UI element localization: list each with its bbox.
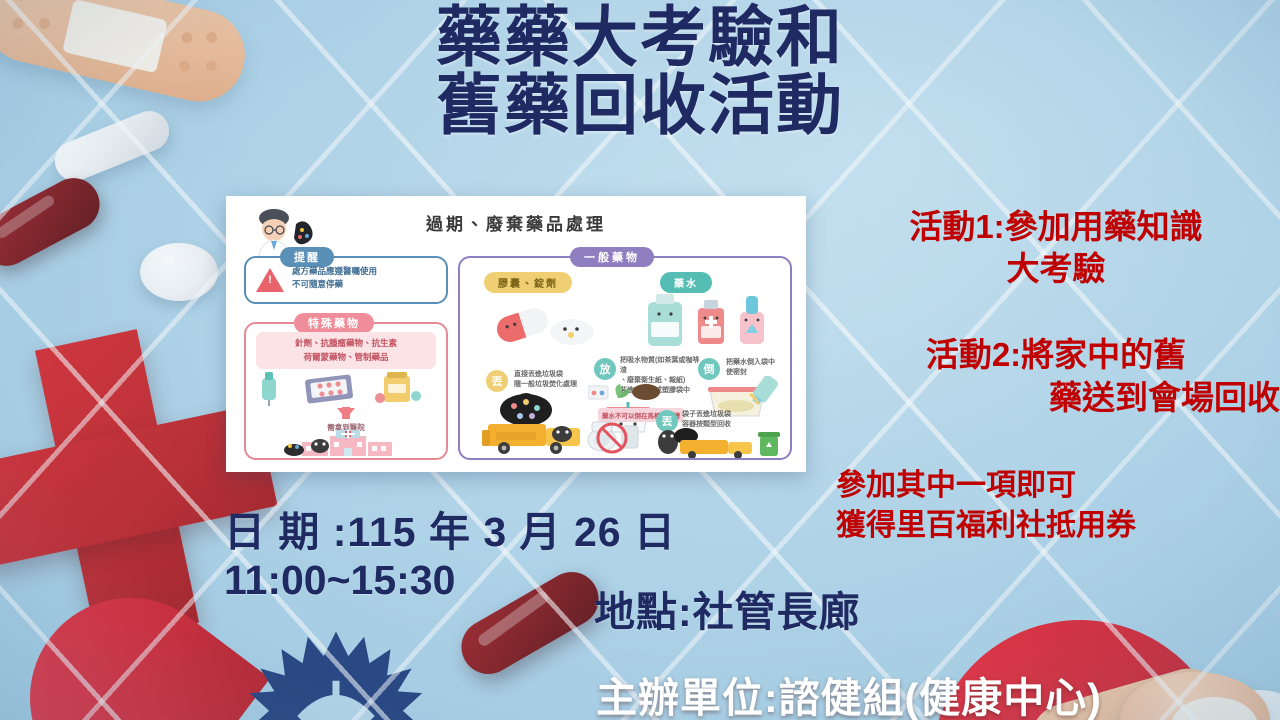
special-drug-icons bbox=[254, 372, 438, 406]
activity-2-line-2: 藥送到會場回收 bbox=[832, 377, 1280, 419]
activity-2-line-1: 活動2:將家中的舊 bbox=[832, 334, 1280, 376]
no-toilet-disposal-icon bbox=[582, 418, 646, 454]
down-arrow-icon bbox=[337, 408, 355, 419]
recycle-truck-illustration bbox=[656, 424, 782, 458]
warning-glyph: ! bbox=[267, 275, 273, 286]
title-line-2: 舊藥回收活動 bbox=[0, 72, 1280, 140]
dark-red-capsule-decoration-2 bbox=[452, 562, 609, 684]
poster-title: 藥藥大考驗和 舊藥回收活動 bbox=[0, 4, 1280, 140]
warning-icon: ! bbox=[256, 268, 284, 292]
infographic-title: 過期、廢棄藥品處理 bbox=[226, 210, 806, 235]
event-time: 11:00~15:30 bbox=[224, 557, 455, 604]
special-drugs-label: 特殊藥物 bbox=[294, 313, 374, 333]
general-drugs-panel: 一般藥物 膠囊、錠劑 藥水 bbox=[458, 256, 792, 460]
event-place: 地點:社管長廊 bbox=[594, 578, 861, 638]
event-host: 主辦單位:諮健組(健康中心) bbox=[596, 664, 1102, 720]
pour-line-1: 把藥水倒入袋中 bbox=[726, 358, 784, 368]
activity-1-line-1: 活動1:參加用藥知識 bbox=[832, 206, 1280, 248]
chip-capsule-tablet: 膠囊、錠劑 bbox=[484, 272, 572, 293]
special-line-1: 針劑、抗腫瘤藥物、抗生素 bbox=[258, 337, 434, 351]
reminder-body: 處方藥品應遵醫囑使用 不可隨意停藥 bbox=[292, 265, 440, 291]
activity-reward-note: 參加其中一項即可 獲得里百福利社抵用券 bbox=[836, 466, 1280, 545]
navy-gear-decoration bbox=[248, 628, 424, 720]
reminder-label: 提醒 bbox=[280, 247, 334, 267]
capsule-tablet-icons bbox=[478, 298, 598, 354]
special-drugs-panel: 特殊藥物 針劑、抗腫瘤藥物、抗生素 荷爾蒙藥物、管制藥品 bbox=[244, 322, 448, 460]
special-drugs-body: 針劑、抗腫瘤藥物、抗生素 荷爾蒙藥物、管制藥品 bbox=[256, 332, 436, 369]
infographic-card: 過期、廢棄藥品處理 提醒 ! 處方藥品應遵醫囑使用 不可隨意停藥 特殊藥物 針劑… bbox=[226, 196, 806, 472]
reminder-line-1: 處方藥品應遵醫囑使用 bbox=[292, 265, 440, 278]
activity-1-line-2: 大考驗 bbox=[832, 248, 1280, 290]
liquid-medicine-icons bbox=[640, 292, 780, 352]
place-line-1: 把吸水物質(如茶葉或咖啡渣 bbox=[620, 356, 702, 376]
reminder-line-2: 不可隨意停藥 bbox=[292, 278, 440, 291]
event-date: 日 期 :115 年 3 月 26 日 bbox=[224, 498, 676, 558]
special-line-2: 荷爾蒙藥物、管制藥品 bbox=[258, 351, 434, 365]
pill-bottle-icon bbox=[375, 372, 421, 403]
step-badge-place: 放 bbox=[594, 358, 616, 380]
syringe-icon bbox=[262, 372, 276, 406]
title-line-1: 藥藥大考驗和 bbox=[0, 4, 1280, 72]
chip-liquid-medicine: 藥水 bbox=[660, 272, 712, 293]
blister-pack-icon bbox=[305, 374, 354, 403]
reward-note-line-1: 參加其中一項即可 bbox=[836, 466, 1280, 506]
general-drugs-label: 一般藥物 bbox=[570, 247, 654, 267]
discard1-line-2: 隨一般垃圾焚化處理 bbox=[514, 380, 592, 390]
discard2-line-1: 袋子丟進垃圾袋 bbox=[682, 410, 752, 420]
white-tablet-decoration bbox=[140, 243, 218, 301]
dark-red-capsule-decoration bbox=[0, 169, 109, 275]
discard1-line-1: 直接丟進垃圾袋 bbox=[514, 370, 592, 380]
reminder-panel: 提醒 ! 處方藥品應遵醫囑使用 不可隨意停藥 bbox=[244, 256, 448, 304]
hospital-illustration bbox=[284, 430, 408, 456]
step-badge-discard-1: 丟 bbox=[486, 370, 508, 392]
activity-1: 活動1:參加用藥知識 大考驗 bbox=[832, 206, 1280, 290]
poster-canvas: 藥藥大考驗和 舊藥回收活動 過期、廢棄藥品處理 提醒 bbox=[0, 0, 1280, 720]
step-text-discard-1: 直接丟進垃圾袋 隨一般垃圾焚化處理 bbox=[514, 370, 592, 390]
activity-2: 活動2:將家中的舊 藥送到會場回收 bbox=[832, 334, 1280, 418]
reward-note-line-2: 獲得里百福利社抵用券 bbox=[836, 506, 1280, 546]
activities-block: 活動1:參加用藥知識 大考驗 活動2:將家中的舊 藥送到會場回收 bbox=[832, 206, 1280, 419]
